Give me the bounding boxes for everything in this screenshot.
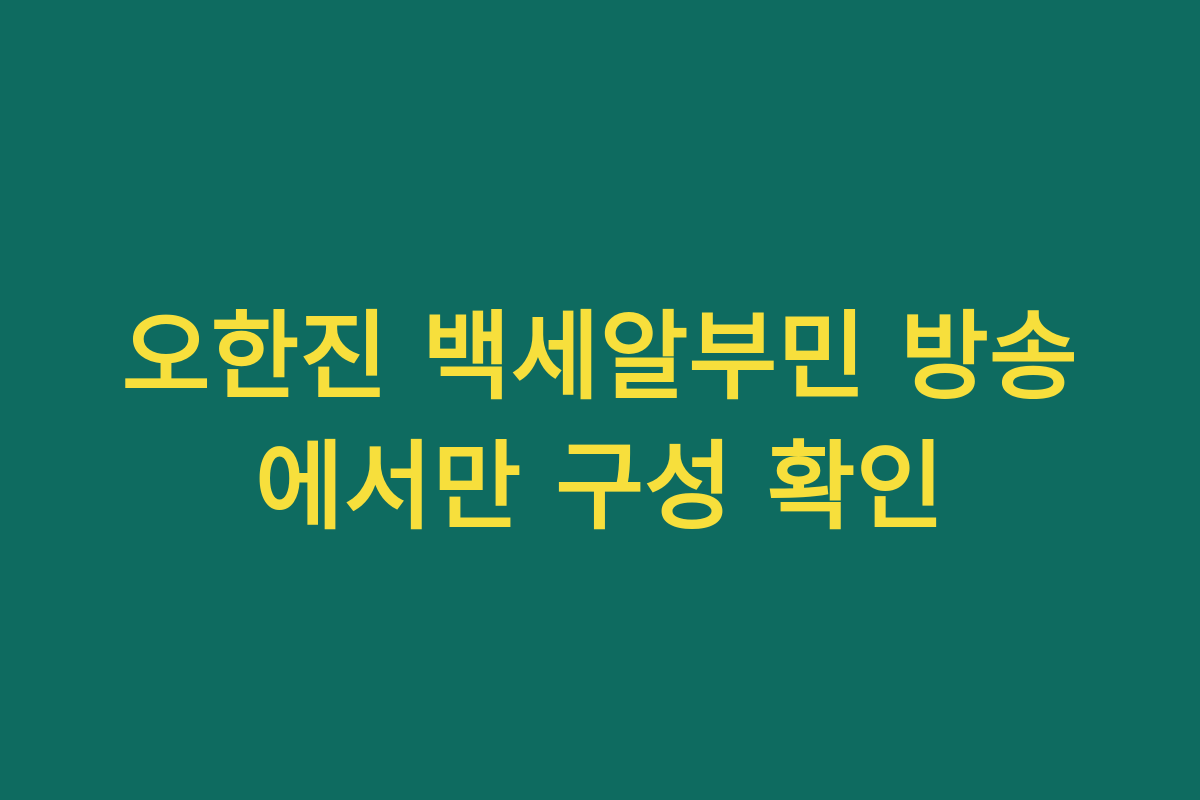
headline-block: 오한진 백세알부민 방송 에서만 구성 확인 xyxy=(0,296,1200,548)
headline-line-1: 오한진 백세알부민 방송 xyxy=(0,296,1200,418)
text-banner: 오한진 백세알부민 방송 에서만 구성 확인 xyxy=(0,0,1200,800)
headline-line-2: 에서만 구성 확인 xyxy=(0,426,1200,548)
